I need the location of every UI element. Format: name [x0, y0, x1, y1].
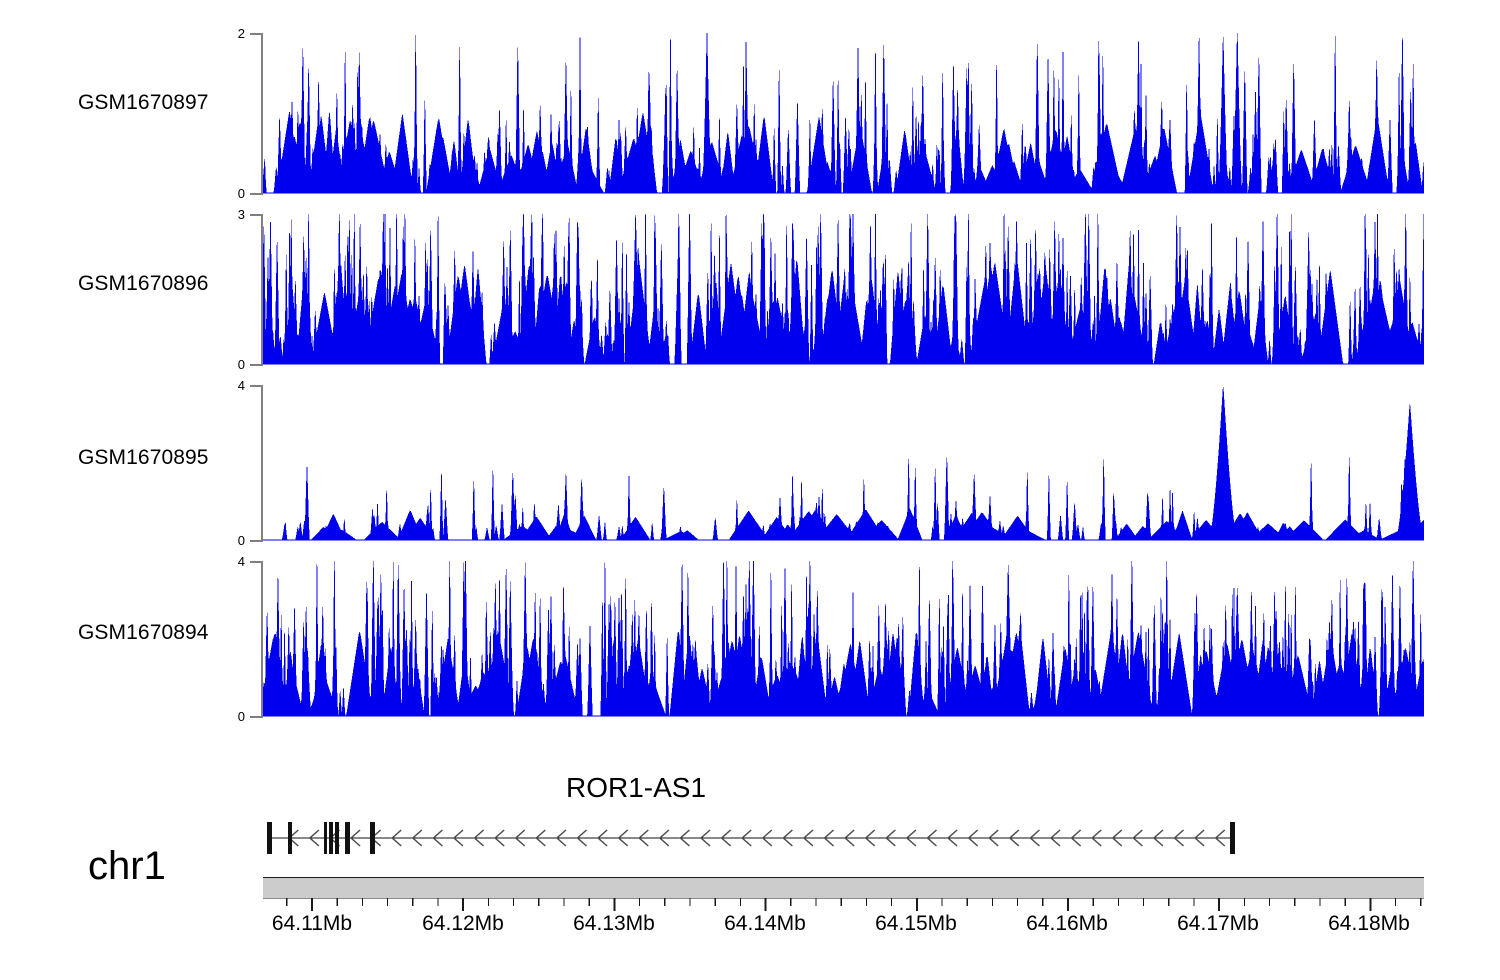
- axis-tick-label-4: 64.15Mb: [875, 912, 957, 936]
- y-axis-value-max-1: 3: [215, 208, 245, 221]
- axis-tick-label-2: 64.13Mb: [573, 912, 655, 936]
- y-axis-tick-min-0: [250, 193, 261, 195]
- track-label-gsm1670896: GSM1670896: [78, 272, 209, 296]
- coverage-plot-gsm1670894: [263, 561, 1424, 717]
- track-label-gsm1670894: GSM1670894: [78, 621, 209, 645]
- y-axis-tick-min-1: [250, 364, 261, 366]
- gene-name-label: ROR1-AS1: [566, 772, 706, 804]
- axis-tick-label-1: 64.12Mb: [422, 912, 504, 936]
- y-axis-value-min-1: 0: [215, 358, 245, 371]
- axis-tick-label-7: 64.18Mb: [1328, 912, 1410, 936]
- y-axis-tick-max-0: [250, 33, 261, 35]
- y-axis-tick-min-2: [250, 540, 261, 542]
- y-axis-tick-max-2: [250, 385, 261, 387]
- axis-tick-label-6: 64.17Mb: [1177, 912, 1259, 936]
- coverage-plot-gsm1670896: [263, 214, 1424, 365]
- chromosome-label: chr1: [88, 844, 166, 889]
- gene-model-svg: [0, 816, 1500, 860]
- axis-tick-label-3: 64.14Mb: [724, 912, 806, 936]
- y-axis-tick-max-1: [250, 214, 261, 216]
- y-axis-tick-max-3: [250, 561, 261, 563]
- y-axis-value-min-3: 0: [215, 710, 245, 723]
- coverage-plot-gsm1670897: [263, 33, 1424, 194]
- y-axis-value-max-0: 2: [215, 27, 245, 40]
- y-axis-value-min-0: 0: [215, 187, 245, 200]
- y-axis-value-max-3: 4: [215, 555, 245, 568]
- track-label-gsm1670895: GSM1670895: [78, 446, 209, 470]
- y-axis-value-min-2: 0: [215, 534, 245, 547]
- axis-tick-label-0: 64.11Mb: [272, 912, 352, 936]
- coverage-plot-gsm1670895: [263, 385, 1424, 541]
- chromosome-bar: [263, 877, 1424, 899]
- genome-browser-figure: GSM167089720GSM167089630GSM167089540GSM1…: [0, 0, 1500, 980]
- track-label-gsm1670897: GSM1670897: [78, 91, 209, 115]
- y-axis-value-max-2: 4: [215, 379, 245, 392]
- axis-tick-label-5: 64.16Mb: [1026, 912, 1108, 936]
- y-axis-tick-min-3: [250, 716, 261, 718]
